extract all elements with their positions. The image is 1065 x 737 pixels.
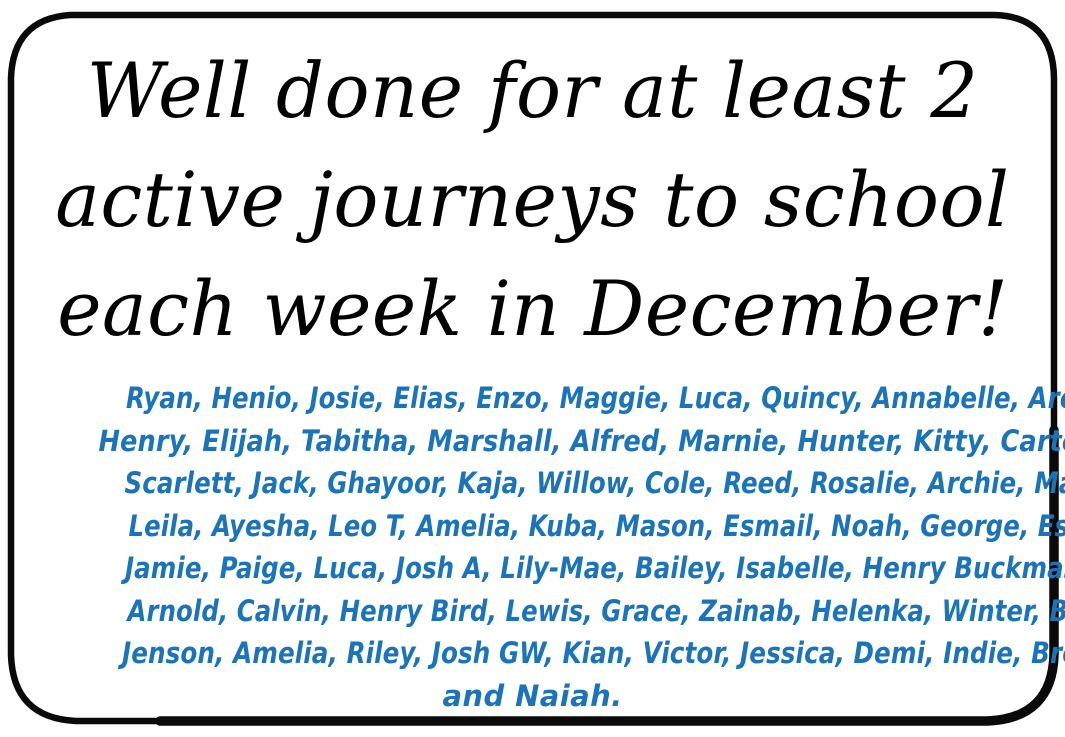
heading-line-2: active journeys to school (55, 145, 1009, 254)
name-list-line-4: Leila, Ayesha, Leo T, Amelia, Kuba, Maso… (128, 505, 1065, 548)
name-list-line-7: Jenson, Amelia, Riley, Josh GW, Kian, Vi… (122, 632, 1065, 675)
name-list: Ryan, Henio, Josie, Elias, Enzo, Maggie,… (33, 377, 1033, 717)
name-list-line-5: Jamie, Paige, Luca, Josh A, Lily-Mae, Ba… (124, 547, 1065, 590)
certificate-poster: Well done for at least 2 active journeys… (0, 0, 1065, 737)
poster-content: Well done for at least 2 active journeys… (30, 18, 1035, 718)
name-list-line-1: Ryan, Henio, Josie, Elias, Enzo, Maggie,… (126, 377, 1065, 420)
heading-line-1: Well done for at least 2 (87, 36, 979, 145)
name-list-line-2: Henry, Elijah, Tabitha, Marshall, Alfred… (98, 420, 1065, 463)
name-list-line-6: Arnold, Calvin, Henry Bird, Lewis, Grace… (127, 590, 1065, 633)
page-title: Well done for at least 2 active journeys… (30, 36, 1035, 363)
name-list-line-3: Scarlett, Jack, Ghayoor, Kaja, Willow, C… (124, 462, 1065, 505)
heading-line-3: each week in December! (57, 254, 1008, 363)
name-list-line-8: and Naiah. (33, 675, 1033, 718)
